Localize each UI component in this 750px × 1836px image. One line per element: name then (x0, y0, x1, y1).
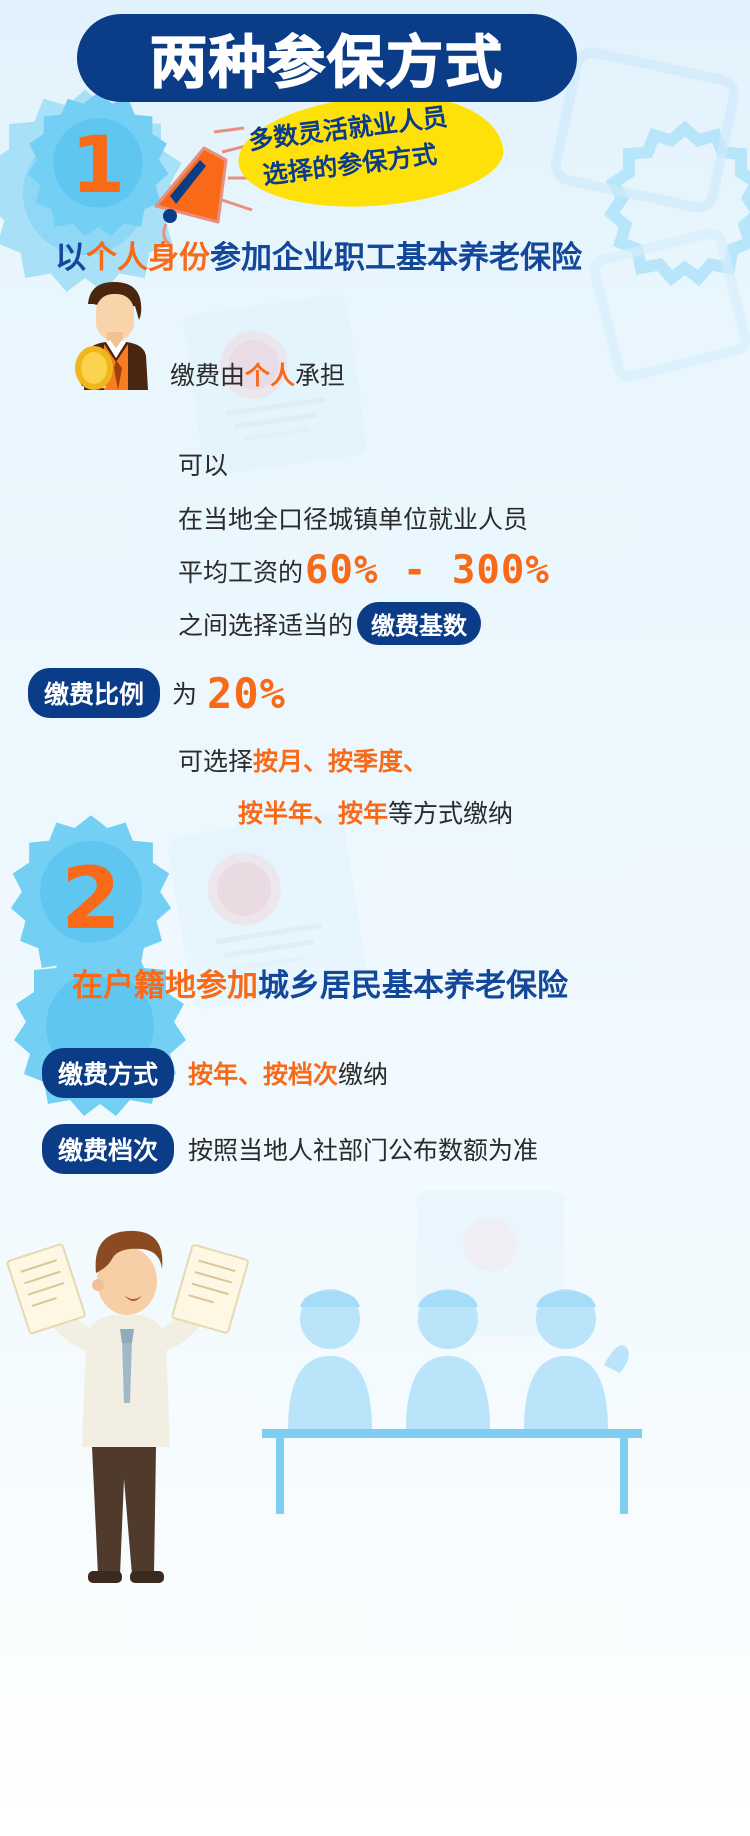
page-title: 两种参保方式 (77, 14, 577, 102)
gear-icon (600, 120, 750, 290)
choose-appropriate-prefix: 之间选择适当的 (178, 606, 353, 642)
section-1-heading-suffix: 参加企业职工基本养老保险 (210, 240, 582, 276)
section-1-heading: 以个人身份参加企业职工基本养老保险 (55, 232, 582, 277)
payment-tier-badge: 缴费档次 (42, 1124, 174, 1174)
poster-title-banner: 两种参保方式 (77, 14, 577, 102)
contribution-rate-badge: 缴费比例 (28, 668, 160, 718)
payment-tier-row: 缴费档次 按照当地人社部门公布数额为准 (42, 1124, 538, 1174)
payment-method-badge: 缴费方式 (42, 1048, 174, 1098)
body-line-1: 可以 (178, 446, 228, 482)
audience-silhouette-icon (288, 1289, 629, 1430)
bottom-illustration (0, 1195, 750, 1595)
presenter-person-icon (7, 1231, 249, 1583)
contribution-rate-row: 缴费比例 为 20% (28, 668, 286, 718)
payment-method-text: 按年、按档次缴纳 (188, 1055, 388, 1091)
payment-method-highlight: 按年、按档次 (188, 1060, 338, 1089)
contribution-rate-connector: 为 (172, 675, 197, 711)
section-2-heading-suffix: 城乡居民基本养老保险 (258, 968, 568, 1004)
payment-tier-text: 按照当地人社部门公布数额为准 (188, 1131, 538, 1167)
payment-borne-prefix: 缴费由 (170, 361, 245, 390)
payment-borne-by-line: 缴费由个人承担 (170, 356, 345, 392)
contribution-base-badge: 缴费基数 (357, 602, 481, 645)
contribution-base-range-value: 60% - 300% (305, 548, 550, 593)
body-line-4: 之间选择适当的缴费基数 (178, 602, 481, 645)
payment-frequency-line-2: 按半年、按年等方式缴纳 (238, 794, 513, 830)
body-line-2: 在当地全口径城镇单位就业人员 (178, 500, 528, 536)
payment-borne-highlight: 个人 (245, 361, 295, 390)
payment-method-suffix: 缴纳 (338, 1060, 388, 1089)
businessman-with-coin-icon (60, 272, 180, 402)
section-1-heading-highlight: 个人身份 (86, 240, 210, 276)
decorative-ribbon (586, 225, 750, 385)
payment-frequency-line-1: 可选择按月、按季度、 (178, 742, 428, 778)
infographic-poster: 两种参保方式 1 多数灵活就业人员 选择的参保方式 以个人 (0, 0, 750, 1836)
frequency-suffix: 等方式缴纳 (388, 799, 513, 828)
frequency-highlight-1: 按月、按季度、 (253, 747, 428, 776)
frequency-highlight-2: 按半年、按年 (238, 799, 388, 828)
section-2-heading-highlight: 在户籍地参加 (72, 968, 258, 1004)
section-2-heading: 在户籍地参加城乡居民基本养老保险 (72, 960, 568, 1005)
payment-borne-suffix: 承担 (295, 361, 345, 390)
average-wage-prefix: 平均工资的 (178, 553, 303, 589)
body-line-3: 平均工资的60% - 300% (178, 548, 550, 593)
frequency-prefix: 可选择 (178, 747, 253, 776)
payment-method-row: 缴费方式 按年、按档次缴纳 (42, 1048, 388, 1098)
contribution-rate-value: 20% (207, 669, 286, 718)
section-1-heading-prefix: 以 (55, 240, 86, 276)
